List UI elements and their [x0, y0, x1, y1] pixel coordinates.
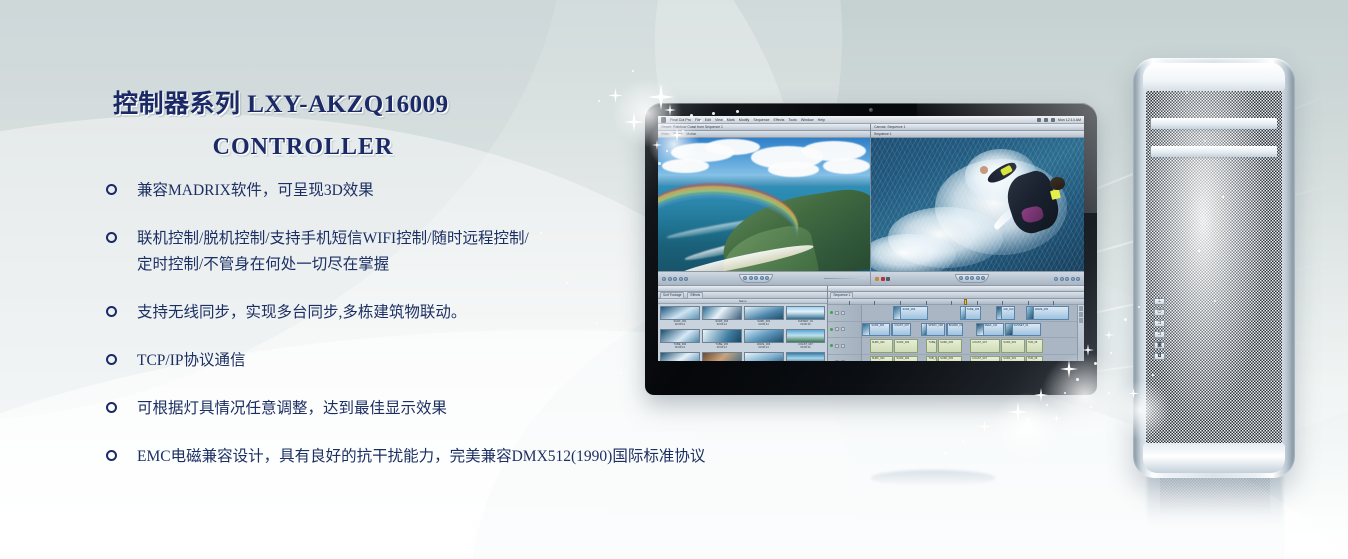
record-swatch[interactable]	[881, 277, 885, 281]
timeline-audio-clip[interactable]: TUB_04	[926, 356, 937, 361]
clip-label: COAST_007	[893, 324, 910, 328]
product-subtitle: CONTROLLER	[113, 134, 493, 161]
timeline-audio-clip[interactable]: TUB_05	[1026, 356, 1043, 361]
mark-in-button-right[interactable]	[1054, 277, 1058, 281]
usb-port-icon-2[interactable]: ⊐	[1154, 331, 1165, 338]
timeline-track-a2[interactable]: SURF_001 SURF_002 TUB_04	[862, 355, 1077, 361]
menu-item[interactable]: Window	[801, 116, 814, 124]
tab-sequence[interactable]: Sequence 1	[874, 132, 892, 136]
hollow-circle-icon	[106, 232, 117, 243]
tower-computer: ⑄ ⏻ ⊐ ⊐ ◙ ◘	[1133, 58, 1295, 478]
usb-port-icon[interactable]: ⊐	[1154, 320, 1165, 327]
timeline-ruler[interactable]	[828, 299, 1084, 305]
app-menubar[interactable]: Final Cut Pro File Edit View Mark Modify…	[658, 116, 1084, 124]
clip-label: TUB_05	[1027, 357, 1042, 361]
viewer-panel-right: Canvas: Sequence 1 Sequence 1	[871, 124, 1084, 271]
menu-item[interactable]: Mark	[727, 116, 735, 124]
timeline-audio-clip[interactable]: SURF_001	[870, 356, 894, 361]
feature-item: 联机控制/脱机控制/支持手机短信WIFI控制/随时远程控制/ 定时控制/不管身在…	[106, 226, 851, 278]
timeline-audio-clip[interactable]: SURF_003	[938, 356, 962, 361]
clip-label: SURF_001	[870, 324, 885, 328]
swatch-group[interactable]	[875, 277, 890, 281]
timeline-audio-clip[interactable]: TUBE_004	[926, 339, 937, 353]
timeline-audio-clip[interactable]: SURF_001	[1001, 356, 1025, 361]
feature-text-line2: 定时控制/不管身在何处一切尽在掌握	[137, 252, 851, 278]
clip-label: SURF_001	[1002, 340, 1024, 344]
playback-controls-right[interactable]	[955, 274, 989, 283]
playhead[interactable]	[964, 299, 967, 305]
clip-label: SURF_003	[939, 340, 961, 344]
clip-label: SURF_003	[901, 307, 916, 311]
timeline-clip[interactable]: SPRAY_008	[921, 323, 945, 337]
menu-item[interactable]: Tools	[788, 116, 796, 124]
timeline-clip[interactable]: SUNSET_01	[1005, 323, 1041, 337]
timeline-clip[interactable]: AIR_010	[996, 306, 1015, 320]
feature-item: 兼容MADRIX软件，可呈现3D效果	[106, 178, 851, 204]
wifi-icon[interactable]	[1044, 118, 1048, 122]
clip-label: BOARD_009	[948, 324, 963, 328]
menubar-status-area[interactable]: Mon 12:14 AM	[1037, 118, 1081, 122]
timeline-clip[interactable]: REEF_011	[976, 323, 1004, 337]
tab-motion[interactable]: Motion	[686, 132, 696, 136]
tower-mesh-front	[1146, 70, 1282, 466]
menu-item[interactable]: Edit	[705, 116, 711, 124]
clip-label: TUB_04	[927, 357, 936, 361]
viewer-title: Viewer: Rainbow Coast from Sequence 1	[661, 125, 723, 129]
timeline-track-v1[interactable]: SURF_001 COAST_007 SPRA	[862, 322, 1077, 339]
drag-hand-swatch[interactable]	[875, 277, 879, 281]
menu-item[interactable]: Sequence	[753, 116, 769, 124]
timeline-scrollbar[interactable]	[1077, 305, 1084, 361]
canvas-tabs[interactable]: Sequence 1	[871, 131, 1084, 138]
scene-surfer-wave	[871, 138, 1084, 271]
hollow-circle-icon	[106, 450, 117, 461]
firewire-icon[interactable]: ⑄	[1154, 298, 1165, 305]
timeline-audio-clip[interactable]: SURF_002	[894, 339, 918, 353]
product-banner: Final Cut Pro File Edit View Mark Modify…	[0, 0, 1348, 559]
timeline-clip[interactable]: WAVE_006	[1026, 306, 1069, 320]
timeline-clip[interactable]: SURF_003	[893, 306, 927, 320]
timeline-clip[interactable]: BOARD_009	[946, 323, 963, 337]
tower-top-handle	[1143, 63, 1285, 91]
surfer-head	[1050, 177, 1065, 190]
timeline-audio-clip[interactable]: COAST_007	[970, 339, 1000, 353]
clip-label: SURF_001	[1002, 357, 1024, 361]
hollow-circle-icon	[106, 184, 117, 195]
timeline-audio-clip[interactable]: SURF_001	[1001, 339, 1025, 353]
timeline-tracks[interactable]: SURF_003 TUBE_005	[862, 305, 1077, 361]
timeline-clip[interactable]: TUBE_005	[960, 306, 981, 320]
monitor-stand-reflection	[871, 470, 995, 486]
previous-edit-button-right[interactable]	[959, 276, 963, 280]
viewer-titlebar[interactable]: Viewer: Rainbow Coast from Sequence 1	[658, 124, 870, 131]
add-marker-button-right[interactable]	[1065, 277, 1069, 281]
feature-item: TCP/IP协议通信	[106, 348, 851, 374]
timeline-track-a1[interactable]: SURF_001 SURF_002 TUBE_004	[862, 338, 1077, 355]
tower-bottom-foot	[1143, 443, 1285, 473]
feature-text: TCP/IP协议通信	[137, 352, 246, 369]
clip-label: TUBE_005	[966, 307, 981, 311]
feature-text: 可根据灯具情况任意调整，达到最佳显示效果	[137, 400, 447, 417]
menu-item[interactable]: Modify	[739, 116, 750, 124]
timeline-audio-clip[interactable]: COAST_007	[970, 356, 1000, 361]
front-port-panel[interactable]: ⑄ ⏻ ⊐ ⊐ ◙ ◘	[1153, 298, 1166, 360]
clip-label: SURF_001	[871, 357, 893, 361]
feature-list: 兼容MADRIX软件，可呈现3D效果 联机控制/脱机控制/支持手机短信WIFI控…	[106, 178, 851, 492]
view-mode-swatch[interactable]	[886, 277, 890, 281]
timeline-clip[interactable]: COAST_007	[891, 323, 910, 337]
clip-label: SURF_002	[895, 357, 917, 361]
hollow-circle-icon	[106, 402, 117, 413]
next-edit-button-right[interactable]	[981, 276, 985, 280]
tab-filters[interactable]: Filters	[673, 132, 682, 136]
headphone-jack-icon[interactable]: ◙	[1154, 342, 1165, 349]
hollow-circle-icon	[106, 306, 117, 317]
optical-drive-slot[interactable]	[1151, 118, 1277, 129]
clip-label: COAST_007	[971, 340, 999, 344]
tower-reflection-mesh	[1160, 474, 1270, 516]
clip-label: SURF_001	[871, 340, 893, 344]
timeline-audio-clip[interactable]: SURF_002	[894, 356, 918, 361]
viewer-tabs[interactable]: Video Filters Motion	[658, 131, 870, 138]
product-title: 控制器系列 LXY-AKZQ16009	[113, 84, 633, 120]
timeline-panel: Sequence 1	[828, 286, 1084, 361]
feature-text: 支持无线同步，实现多台同步,多栋建筑物联动。	[137, 304, 466, 321]
feature-text: 联机控制/脱机控制/支持手机短信WIFI控制/随时远程控制/	[137, 230, 529, 247]
menu-item[interactable]: Final Cut Pro	[670, 116, 691, 124]
menu-item[interactable]: Help	[818, 116, 825, 124]
menubar-clock[interactable]: Mon 12:14 AM	[1058, 118, 1081, 122]
title-block: 控制器系列 LXY-AKZQ16009 CONTROLLER	[113, 84, 633, 161]
mark-out-button-right[interactable]	[1060, 277, 1064, 281]
match-frame-button-right[interactable]	[1076, 277, 1080, 281]
bluetooth-icon[interactable]	[1037, 118, 1041, 122]
timeline-body[interactable]: SURF_003 TUBE_005	[828, 305, 1084, 361]
play-around-button-right[interactable]	[976, 276, 980, 280]
text-content-block: 控制器系列 LXY-AKZQ16009 CONTROLLER 兼容MADRIX软…	[0, 0, 660, 559]
timeline-track-v2[interactable]: SURF_003 TUBE_005	[862, 305, 1077, 322]
play-in-to-out-button-right[interactable]	[965, 276, 969, 280]
clip-label: TUBE_004	[927, 340, 936, 344]
clip-label: WAVE_006	[1034, 307, 1049, 311]
timeline-tabs[interactable]: Sequence 1	[828, 292, 1084, 299]
timeline-audio-clip[interactable]: TUB_05	[1026, 339, 1043, 353]
battery-icon[interactable]	[1051, 118, 1055, 122]
add-keyframe-button-right[interactable]	[1071, 277, 1075, 281]
feature-text: EMC电磁兼容设计，具有良好的抗干扰能力，完美兼容DMX512(1990)国际标…	[137, 448, 705, 465]
timeline-clip[interactable]: SURF_001	[862, 323, 890, 337]
webcam-icon	[869, 108, 873, 112]
clip-label: SPRAY_008	[927, 324, 943, 328]
viewer-canvas-surfer[interactable]	[871, 138, 1084, 271]
transport-right[interactable]	[871, 272, 1084, 285]
power-icon[interactable]: ⏻	[1154, 309, 1165, 316]
apple-logo-icon[interactable]	[661, 117, 666, 123]
timeline-audio-clip[interactable]: SURF_003	[938, 339, 962, 353]
audio-line-icon[interactable]: ◘	[1154, 353, 1165, 360]
clip-label: REEF_011	[984, 324, 999, 328]
clip-label: SURF_003	[939, 357, 961, 361]
surfer-hand	[980, 166, 989, 174]
feature-item: 可根据灯具情况任意调整，达到最佳显示效果	[106, 396, 851, 422]
clip-label: SURF_002	[895, 340, 917, 344]
clip-label: AIR_010	[1002, 307, 1014, 311]
timeline-audio-clip[interactable]: SURF_001	[870, 339, 894, 353]
menu-item[interactable]: View	[715, 116, 723, 124]
hollow-circle-icon	[106, 354, 117, 365]
play-button-right[interactable]	[970, 276, 974, 280]
clip-label: SUNSET_01	[1013, 324, 1030, 328]
menu-item[interactable]: File	[695, 116, 701, 124]
canvas-titlebar[interactable]: Canvas: Sequence 1	[871, 124, 1084, 131]
tab-video[interactable]: Video	[661, 132, 669, 136]
feature-item: 支持无线同步，实现多台同步,多栋建筑物联动。	[106, 300, 851, 326]
optical-drive-slot-2[interactable]	[1151, 146, 1277, 157]
transport-buttons-right[interactable]	[1054, 277, 1080, 281]
feature-text: 兼容MADRIX软件，可呈现3D效果	[137, 182, 374, 199]
clip-label: TUB_05	[1027, 340, 1042, 344]
clip-label: COAST_007	[971, 357, 999, 361]
menu-item[interactable]: Effects	[774, 116, 785, 124]
feature-item: EMC电磁兼容设计，具有良好的抗干扰能力，完美兼容DMX512(1990)国际标…	[106, 444, 851, 470]
canvas-title: Canvas: Sequence 1	[874, 125, 905, 129]
